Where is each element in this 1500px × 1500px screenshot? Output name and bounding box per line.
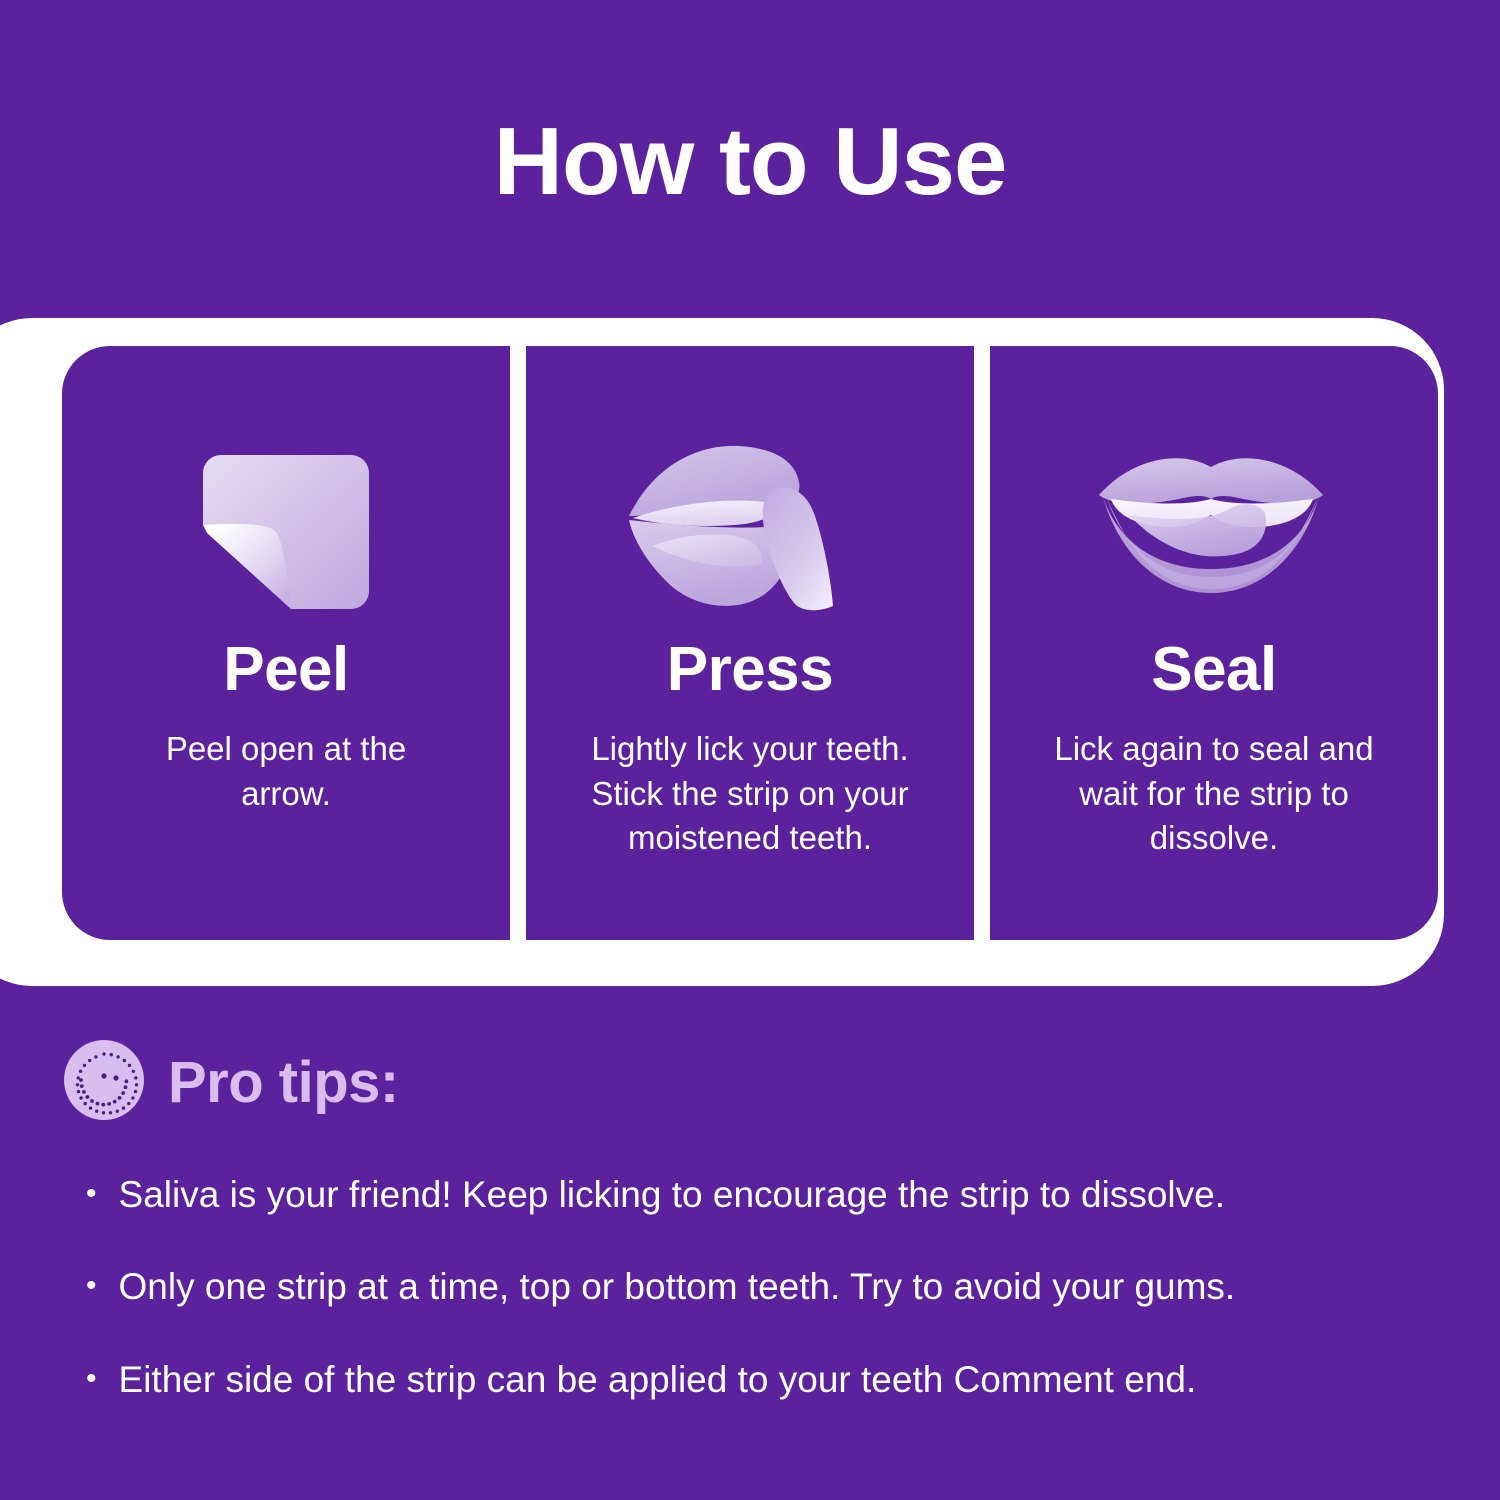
step-card-seal: Seal Lick again to seal and wait for the…: [990, 346, 1438, 940]
list-item: • Either side of the strip can be applie…: [86, 1357, 1446, 1403]
protip-text: Only one strip at a time, top or bottom …: [119, 1264, 1236, 1310]
step-divider-1: [510, 346, 526, 940]
dotted-smiley-face-icon: [62, 1038, 146, 1127]
step-card-peel: Peel Peel open at the arrow.: [62, 346, 510, 940]
step-description-press: Lightly lick your teeth. Stick the strip…: [560, 727, 940, 861]
protips-heading: Pro tips:: [168, 1049, 399, 1116]
step-description-peel: Peel open at the arrow.: [121, 727, 451, 816]
peel-sticker-icon: [62, 438, 510, 628]
steps-container: Peel Peel open at the arrow.: [62, 346, 1438, 940]
steps-frame: Peel Peel open at the arrow.: [0, 318, 1444, 986]
protip-text: Either side of the strip can be applied …: [119, 1357, 1197, 1403]
step-divider-2: [974, 346, 990, 940]
step-title-peel: Peel: [223, 634, 349, 705]
bullet-glyph: •: [86, 1264, 97, 1308]
lips-seal-strip-icon: [990, 438, 1438, 628]
step-title-seal: Seal: [1151, 634, 1277, 705]
list-item: • Only one strip at a time, top or botto…: [86, 1264, 1446, 1310]
step-description-seal: Lick again to seal and wait for the stri…: [1024, 727, 1404, 861]
protips-heading-row: Pro tips:: [62, 1038, 399, 1127]
lips-press-strip-icon: [526, 438, 974, 628]
step-card-press: Press Lightly lick your teeth. Stick the…: [526, 346, 974, 940]
bullet-glyph: •: [86, 1172, 97, 1216]
list-item: • Saliva is your friend! Keep licking to…: [86, 1172, 1446, 1218]
protip-text: Saliva is your friend! Keep licking to e…: [119, 1172, 1225, 1218]
protips-list: • Saliva is your friend! Keep licking to…: [86, 1172, 1446, 1449]
step-title-press: Press: [667, 634, 833, 705]
bullet-glyph: •: [86, 1357, 97, 1401]
page-title: How to Use: [0, 108, 1500, 216]
